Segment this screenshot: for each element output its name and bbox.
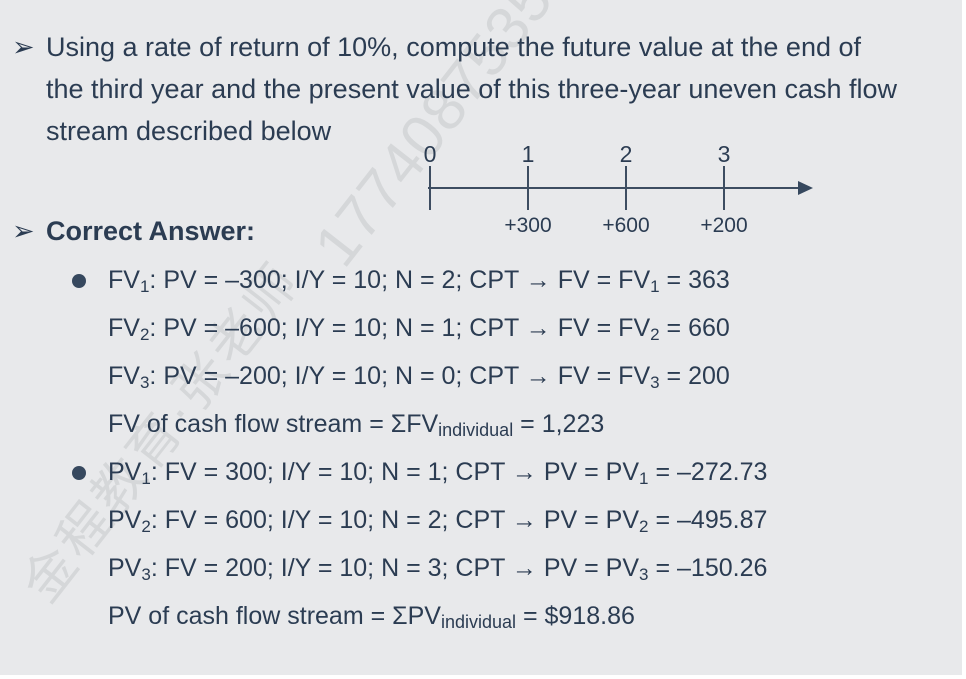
timeline-period-label-2: 2 [606, 143, 646, 166]
fv2-result-subscript: 2 [650, 325, 659, 344]
dot-bullet-icon-pv [72, 452, 108, 492]
fv1-subscript: 1 [140, 277, 149, 296]
fv3-subscript: 3 [140, 373, 149, 392]
fv2-subscript: 2 [140, 325, 149, 344]
pv2-result: = –495.87 [649, 506, 768, 534]
pv1-label: PV [108, 458, 141, 486]
fv3-body: : PV = –200; I/Y = 10; N = 0; CPT → FV =… [149, 362, 650, 390]
arrow-bullet-icon-answer: ➢ [12, 210, 46, 252]
question-text: Using a rate of return of 10%, compute t… [46, 26, 897, 152]
timeline-arrowhead-icon [798, 181, 813, 195]
fv-total-line: FV of cash flow stream = ΣFVindividual =… [72, 404, 604, 446]
timeline-axis-line [428, 187, 798, 189]
timeline-cashflow-1: +300 [483, 215, 573, 236]
pv3-subscript: 3 [141, 565, 150, 584]
correct-answer-label: Correct Answer: [46, 210, 255, 252]
fv2-result: = 660 [660, 314, 730, 342]
fv3-label: FV [108, 362, 140, 390]
fv1-result-subscript: 1 [650, 277, 659, 296]
pv1-result-subscript: 1 [639, 469, 648, 488]
timeline-cashflow-2: +600 [581, 215, 671, 236]
timeline-tick-2 [625, 166, 627, 210]
pv-total-suffix: = $918.86 [516, 602, 635, 630]
fv3-result-subscript: 3 [650, 373, 659, 392]
pv-total-prefix: PV of cash flow stream = ΣPV [108, 602, 441, 630]
fv-line-2: FV2: PV = –600; I/Y = 10; N = 1; CPT → F… [72, 308, 730, 351]
pv3-result: = –150.26 [649, 554, 768, 582]
question-block: ➢ Using a rate of return of 10%, compute… [12, 26, 897, 152]
fv-total-prefix: FV of cash flow stream = ΣFV [108, 410, 438, 438]
fv3-result: = 200 [660, 362, 730, 390]
pv1-result: = –272.73 [649, 458, 768, 486]
fv1-result: = 363 [660, 266, 730, 294]
timeline-tick-0 [429, 166, 431, 210]
pv3-label: PV [108, 554, 141, 582]
pv2-label: PV [108, 506, 141, 534]
pv-line-3: PV3: FV = 200; I/Y = 10; N = 3; CPT → PV… [72, 548, 767, 591]
timeline-tick-3 [723, 166, 725, 210]
pv1-body: : FV = 300; I/Y = 10; N = 1; CPT → PV = … [151, 458, 639, 486]
pv2-body: : FV = 600; I/Y = 10; N = 2; CPT → PV = … [151, 506, 639, 534]
fv-total-subscript: individual [438, 420, 513, 440]
pv2-subscript: 2 [141, 517, 150, 536]
timeline-tick-1 [527, 166, 529, 210]
pv-total-subscript: individual [441, 612, 516, 632]
fv2-label: FV [108, 314, 140, 342]
pv-line-2: PV2: FV = 600; I/Y = 10; N = 2; CPT → PV… [72, 500, 767, 543]
fv-line-3: FV3: PV = –200; I/Y = 10; N = 0; CPT → F… [72, 356, 730, 399]
timeline-period-label-1: 1 [508, 143, 548, 166]
fv2-body: : PV = –600; I/Y = 10; N = 1; CPT → FV =… [149, 314, 650, 342]
fv1-body: : PV = –300; I/Y = 10; N = 2; CPT → FV =… [149, 266, 650, 294]
pv2-result-subscript: 2 [639, 517, 648, 536]
pv3-result-subscript: 3 [639, 565, 648, 584]
fv-total-suffix: = 1,223 [513, 410, 604, 438]
timeline-period-label-0: 0 [410, 143, 450, 166]
timeline-cashflow-3: +200 [679, 215, 769, 236]
question-line-1: Using a rate of return of 10%, compute t… [46, 26, 897, 68]
pv1-subscript: 1 [141, 469, 150, 488]
cash-flow-timeline: 0 1 2 3 +300 +600 +200 [420, 145, 820, 240]
question-line-2: the third year and the present value of … [46, 68, 897, 110]
slide-canvas: 1774087535 金程教育·张老师 ➢ Using a rate of re… [0, 0, 962, 675]
arrow-bullet-icon: ➢ [12, 26, 46, 68]
timeline-period-label-3: 3 [704, 143, 744, 166]
fv-line-1: FV1: PV = –300; I/Y = 10; N = 2; CPT → F… [72, 260, 730, 303]
pv-total-line: PV of cash flow stream = ΣPVindividual =… [72, 596, 635, 638]
correct-answer-heading-block: ➢ Correct Answer: [12, 210, 255, 252]
dot-bullet-icon-fv [72, 260, 108, 300]
pv3-body: : FV = 200; I/Y = 10; N = 3; CPT → PV = … [151, 554, 639, 582]
pv-line-1: PV1: FV = 300; I/Y = 10; N = 1; CPT → PV… [72, 452, 767, 495]
fv1-label: FV [108, 266, 140, 294]
